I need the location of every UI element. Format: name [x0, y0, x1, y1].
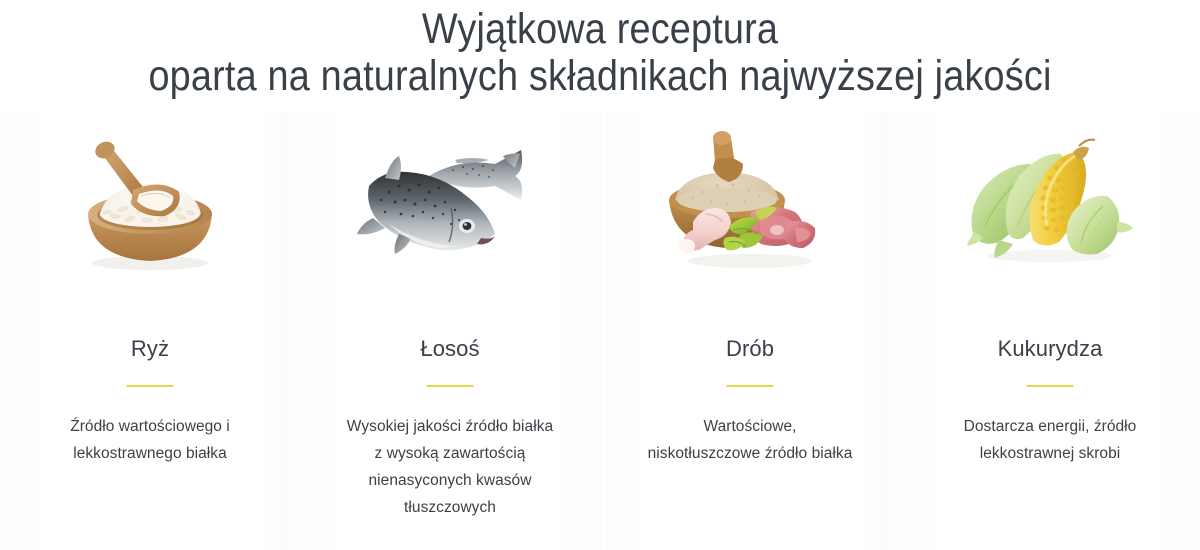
ingredient-column-corn: Kukurydza Dostarcza energii, źródło lekk…: [900, 112, 1200, 550]
ingredient-description: Wysokiej jakości źródło białka z wysoką …: [345, 413, 555, 521]
ingredient-column-poultry: Drób Wartościowe, niskotłuszczowe źródło…: [600, 112, 900, 550]
title-divider: [726, 385, 774, 387]
ingredient-description: Wartościowe, niskotłuszczowe źródło biał…: [645, 413, 855, 467]
title-divider: [126, 385, 174, 387]
poultry-meat-bowl-image: [655, 130, 845, 280]
heading-line-2: oparta na naturalnych składnikach najwyż…: [72, 53, 1128, 100]
ingredients-section: Wyjątkowa receptura oparta na naturalnyc…: [0, 0, 1200, 550]
ingredient-title: Drób: [726, 336, 774, 362]
ingredient-description: Dostarcza energii, źródło lekkostrawnej …: [945, 413, 1155, 467]
ingredient-title: Łosoś: [420, 336, 479, 362]
ingredient-columns: Ryż Źródło wartościowego i lekkostrawneg…: [0, 112, 1200, 550]
ingredient-column-rice: Ryż Źródło wartościowego i lekkostrawneg…: [0, 112, 300, 550]
corn-cobs-image: [955, 130, 1145, 280]
ingredient-column-salmon: Łosoś Wysokiej jakości źródło białka z w…: [300, 112, 600, 550]
ingredient-title: Ryż: [131, 336, 169, 362]
heading-line-1: Wyjątkowa receptura: [72, 6, 1128, 53]
rice-bowl-image: [55, 130, 245, 280]
salmon-fish-image: [355, 130, 545, 280]
title-divider: [1026, 385, 1074, 387]
ingredient-description: Źródło wartościowego i lekkostrawnego bi…: [45, 413, 255, 467]
ingredient-title: Kukurydza: [998, 336, 1103, 362]
section-heading: Wyjątkowa receptura oparta na naturalnyc…: [0, 0, 1200, 100]
title-divider: [426, 385, 474, 387]
